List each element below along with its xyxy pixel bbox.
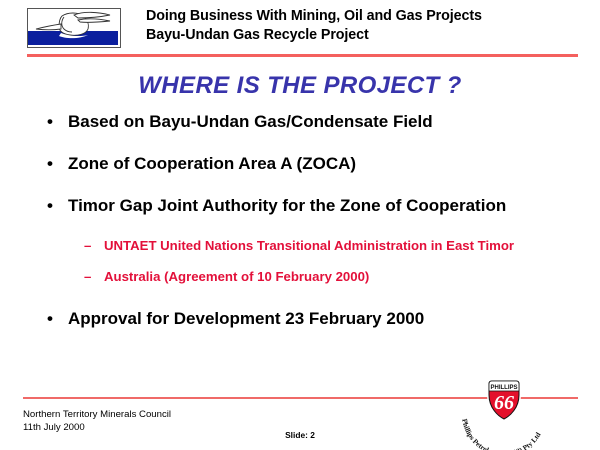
header-title-line-1: Doing Business With Mining, Oil and Gas … xyxy=(146,7,586,26)
bullet-dot-icon: • xyxy=(47,108,53,136)
list-item-label: Approval for Development 23 February 200… xyxy=(68,305,588,333)
slide-header: Doing Business With Mining, Oil and Gas … xyxy=(0,0,600,52)
footer-organisation: Northern Territory Minerals Council xyxy=(23,408,171,421)
sponsor-arc-text: Phillips Petroleum (91-12) Pty Ltd xyxy=(460,418,542,450)
page-title: WHERE IS THE PROJECT ? xyxy=(0,72,600,100)
slide-canvas: Doing Business With Mining, Oil and Gas … xyxy=(0,0,600,450)
phillips-66-shield-icon: Phillips Petroleum (91-12) Pty Ltd PHILL… xyxy=(452,378,564,450)
header-divider xyxy=(27,54,578,57)
sub-list-item-label: UNTAET United Nations Transitional Admin… xyxy=(104,234,574,257)
list-item: • Approval for Development 23 February 2… xyxy=(0,305,588,333)
header-title-line-2: Bayu-Undan Gas Recycle Project xyxy=(146,26,586,45)
header-title-group: Doing Business With Mining, Oil and Gas … xyxy=(146,7,586,45)
bullet-list: • Based on Bayu-Undan Gas/Condensate Fie… xyxy=(0,108,600,347)
sponsor-brand-top: PHILLIPS xyxy=(490,385,517,391)
list-item-label: Based on Bayu-Undan Gas/Condensate Field xyxy=(68,108,588,136)
bullet-dot-icon: • xyxy=(47,305,53,333)
list-item: • Based on Bayu-Undan Gas/Condensate Fie… xyxy=(0,108,588,136)
bullet-dot-icon: • xyxy=(47,150,53,178)
bullet-dot-icon: • xyxy=(47,192,53,220)
sub-list-item: – UNTAET United Nations Transitional Adm… xyxy=(0,234,574,257)
list-item-label: Timor Gap Joint Authority for the Zone o… xyxy=(68,192,588,220)
pelican-water-logo-graphic xyxy=(28,9,118,45)
sub-list-item-label: Australia (Agreement of 10 February 2000… xyxy=(104,265,574,288)
list-item: • Timor Gap Joint Authority for the Zone… xyxy=(0,192,588,220)
list-item-label: Zone of Cooperation Area A (ZOCA) xyxy=(68,150,588,178)
phillips-66-shield-graphic: Phillips Petroleum (91-12) Pty Ltd PHILL… xyxy=(452,378,564,450)
list-item: • Zone of Cooperation Area A (ZOCA) xyxy=(0,150,588,178)
pelican-water-logo xyxy=(27,8,121,48)
bullet-dash-icon: – xyxy=(84,265,91,288)
svg-text:Phillips Petroleum (91-12) Pty: Phillips Petroleum (91-12) Pty Ltd xyxy=(460,418,542,450)
sponsor-brand-number: 66 xyxy=(494,392,514,414)
bullet-dash-icon: – xyxy=(84,234,91,257)
sub-list-item: – Australia (Agreement of 10 February 20… xyxy=(0,265,574,288)
